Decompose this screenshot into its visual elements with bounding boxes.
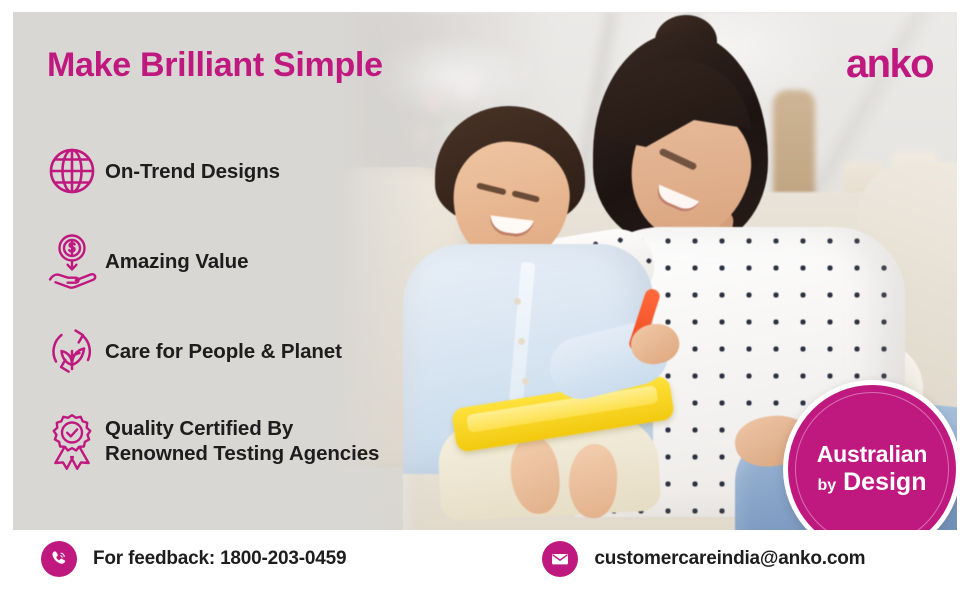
- badge-design-word: Design: [843, 468, 926, 496]
- promo-banner: Make Brilliant Simple anko On-Trend Desi…: [0, 0, 970, 600]
- feature-item: On-Trend Designs: [39, 140, 469, 202]
- boy-shirt-button: [514, 298, 521, 305]
- recycle-leaf-icon: [39, 325, 105, 377]
- globe-icon: [39, 146, 105, 196]
- badge-by-word: by: [818, 477, 837, 494]
- feature-label: Care for People & Planet: [105, 339, 342, 364]
- email-text: customercareindia@anko.com: [594, 548, 865, 570]
- contact-footer: For feedback: 1800-203-0459 customercare…: [13, 530, 957, 588]
- feature-list: On-Trend Designs Amazing Value: [39, 140, 469, 500]
- email-contact[interactable]: customercareindia@anko.com: [542, 541, 865, 577]
- quality-rosette-icon: [39, 412, 105, 470]
- page-title: Make Brilliant Simple: [47, 46, 383, 85]
- feature-label-line1: Quality Certified By: [105, 416, 379, 441]
- banner-card: Make Brilliant Simple anko On-Trend Desi…: [13, 12, 957, 588]
- phone-contact[interactable]: For feedback: 1800-203-0459: [41, 541, 346, 577]
- feature-label: Quality Certified By Renowned Testing Ag…: [105, 416, 379, 466]
- badge-line-1: Australian: [817, 442, 927, 467]
- feature-label: Amazing Value: [105, 249, 248, 274]
- boy-shirt-button: [522, 378, 529, 385]
- coin-hand-icon: [39, 233, 105, 289]
- feature-item: Care for People & Planet: [39, 320, 469, 382]
- feature-label: On-Trend Designs: [105, 159, 280, 184]
- phone-icon: [41, 541, 77, 577]
- feature-item: Quality Certified By Renowned Testing Ag…: [39, 410, 469, 472]
- feature-label-line2: Renowned Testing Agencies: [105, 441, 379, 466]
- phone-text: For feedback: 1800-203-0459: [93, 548, 346, 570]
- badge-line-2: by Design: [818, 469, 927, 497]
- mail-icon: [542, 541, 578, 577]
- feature-item: Amazing Value: [39, 230, 469, 292]
- boy-shirt-button: [518, 338, 525, 345]
- anko-logo: anko: [846, 44, 933, 84]
